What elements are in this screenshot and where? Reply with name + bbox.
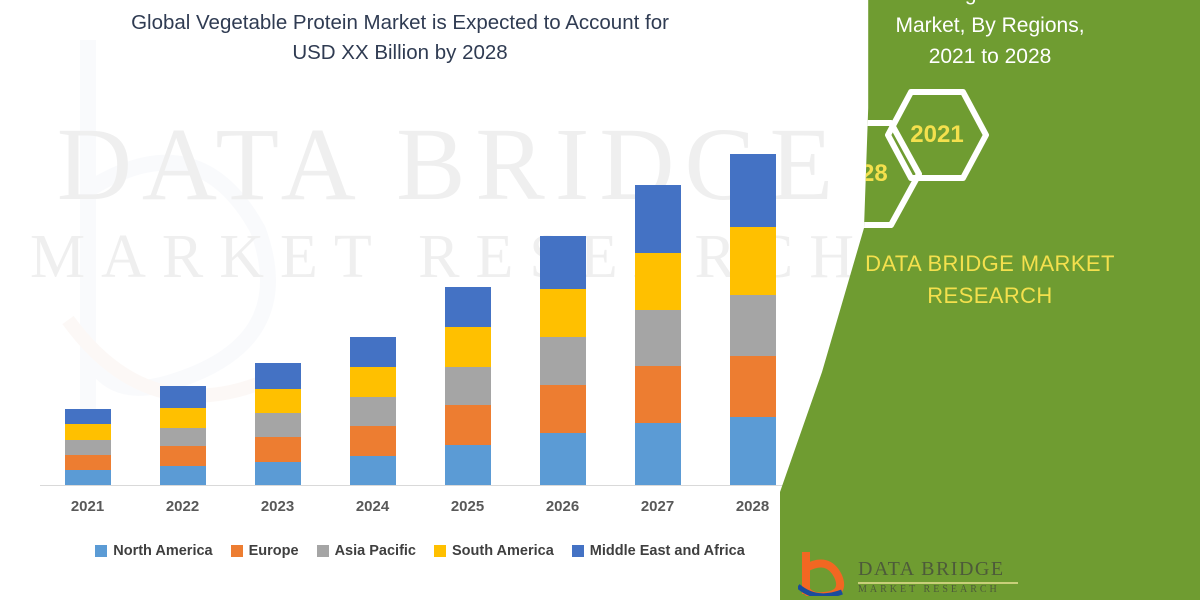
company-logo: DATA BRIDGE MARKET RESEARCH [798,542,1058,600]
bar-segment[interactable] [730,227,776,295]
legend-item-europe[interactable]: Europe [231,543,299,559]
legend-label: South America [452,543,554,559]
bar-segment[interactable] [160,428,206,446]
bar-segment[interactable] [65,409,111,424]
legend-label: Asia Pacific [335,543,416,559]
legend-swatch-icon [95,545,107,557]
bar-group-2026 [515,100,610,485]
bar-segment[interactable] [255,413,301,437]
bar-segment[interactable] [635,185,681,253]
stacked-bar[interactable] [65,409,111,485]
bar-segment[interactable] [635,423,681,485]
bar-segment[interactable] [445,327,491,367]
x-axis-label-2027: 2027 [610,498,705,524]
x-axis-label-2023: 2023 [230,498,325,524]
stacked-bar[interactable] [445,287,491,485]
bar-group-2023 [230,100,325,485]
x-axis-label-2026: 2026 [515,498,610,524]
bar-group-2027 [610,100,705,485]
bar-group-2022 [135,100,230,485]
hexagon-badge-2021-label: 2021 [910,121,963,149]
stacked-bar[interactable] [255,363,301,485]
bar-segment[interactable] [255,363,301,389]
bar-segment[interactable] [445,287,491,327]
bar-segment[interactable] [540,236,586,289]
bar-segment[interactable] [445,445,491,485]
page-title: Global Vegetable Protein Market is Expec… [40,8,760,67]
chart-panel: DATA BRIDGE MARKET RESEARCH Global Veget… [0,0,900,600]
stacked-bar[interactable] [635,185,681,485]
bar-segment[interactable] [350,367,396,397]
company-logo-title: DATA BRIDGE [858,558,1005,581]
bar-segment[interactable] [350,397,396,426]
data-bridge-logo-icon [798,550,850,596]
legend-item-asia-pacific[interactable]: Asia Pacific [317,543,416,559]
bar-segment[interactable] [730,154,776,227]
chart-legend: North AmericaEuropeAsia PacificSouth Ame… [40,538,800,564]
legend-item-south-america[interactable]: South America [434,543,554,559]
bar-segment[interactable] [445,405,491,445]
x-axis-tick-labels: 20212022202320242025202620272028 [40,498,800,524]
legend-label: Europe [249,543,299,559]
bar-segment[interactable] [160,446,206,466]
legend-swatch-icon [317,545,329,557]
bar-segment[interactable] [65,455,111,470]
x-axis-label-2024: 2024 [325,498,420,524]
bar-group-2024 [325,100,420,485]
bar-segment[interactable] [540,337,586,385]
legend-item-middle-east-and-africa[interactable]: Middle East and Africa [572,543,745,559]
bar-segment[interactable] [65,440,111,455]
bar-segment[interactable] [350,456,396,485]
stacked-bar[interactable] [160,386,206,485]
legend-item-north-america[interactable]: North America [95,543,212,559]
infographic-root: DATA BRIDGE MARKET RESEARCH Global Veget… [0,0,1200,600]
bar-segment[interactable] [540,433,586,485]
stacked-bar[interactable] [350,337,396,485]
bar-group-2028 [705,100,800,485]
x-axis-line [40,485,800,486]
bar-segment[interactable] [255,462,301,485]
bar-segment[interactable] [540,385,586,433]
chart-plot-area [40,100,800,485]
legend-swatch-icon [434,545,446,557]
legend-label: North America [113,543,212,559]
bar-segment[interactable] [445,367,491,405]
bar-segment[interactable] [635,253,681,310]
legend-swatch-icon [572,545,584,557]
bar-segment[interactable] [65,470,111,485]
legend-swatch-icon [231,545,243,557]
bar-segment[interactable] [540,289,586,337]
bar-group-2025 [420,100,515,485]
bar-segment[interactable] [350,337,396,367]
x-axis-label-2022: 2022 [135,498,230,524]
bar-group-2021 [40,100,135,485]
bar-segment[interactable] [160,386,206,408]
stacked-bar[interactable] [540,236,586,485]
bar-segment[interactable] [255,389,301,413]
bar-segment[interactable] [350,426,396,456]
bar-segment[interactable] [160,466,206,485]
company-logo-subtitle: MARKET RESEARCH [858,584,1000,595]
bar-segment[interactable] [730,417,776,485]
bar-segment[interactable] [160,408,206,428]
chart-title-line-2: USD XX Billion by 2028 [40,38,760,68]
stacked-bar[interactable] [730,154,776,485]
legend-label: Middle East and Africa [590,543,745,559]
bar-segment[interactable] [730,295,776,356]
bar-segment[interactable] [255,437,301,462]
bar-segment[interactable] [635,310,681,366]
chart-title-line-1: Global Vegetable Protein Market is Expec… [40,8,760,38]
x-axis-label-2021: 2021 [40,498,135,524]
bar-segment[interactable] [635,366,681,423]
bar-segment[interactable] [65,424,111,440]
x-axis-label-2025: 2025 [420,498,515,524]
bar-segment[interactable] [730,356,776,417]
